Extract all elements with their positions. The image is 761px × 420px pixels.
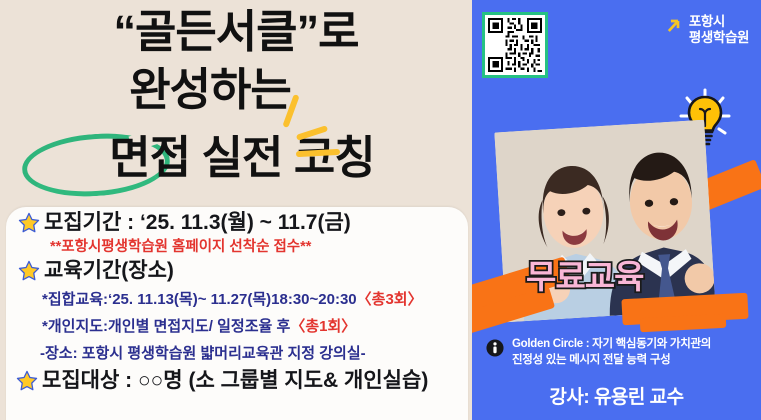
detail-row-application-note: **포항시평생학습원 홈페이지 선착순 접수** <box>50 238 311 256</box>
note-text: Golden Circle : 자기 핵심동기와 가치관의 진정성 있는 메시지… <box>512 336 711 368</box>
arrow-up-right-icon <box>663 16 683 38</box>
logo-line-1: 포항시 <box>689 14 725 29</box>
info-icon <box>486 339 504 357</box>
title-line-2: 완성하는 <box>0 64 446 116</box>
title-block: “골든서클”로 완성하는 면접 실전 코칭 <box>0 2 472 207</box>
left-content-panel: “골든서클”로 완성하는 면접 실전 코칭 모집기간 : ‘25. 11.3(월… <box>0 0 472 420</box>
organization-logo: 포항시 평생학습원 <box>663 14 749 46</box>
recruitment-period-text: 모집기간 : ‘25. 11.3(월) ~ 11.7(금) <box>44 211 351 235</box>
star-icon <box>16 370 38 392</box>
detail-row-target-audience: 모집대상 : ○○명 (소 그룹별 지도& 개인실습) <box>16 369 428 393</box>
instructor-name: 강사: 유용린 교수 <box>472 382 761 409</box>
title-line-3: 면접 실전 코칭 <box>6 132 472 184</box>
detail-row-venue: -장소: 포항시 평생학습원 뱗머리교육관 지정 강의실- <box>40 344 366 363</box>
detail-row-group-training: *집합교육:‘25. 11.13(목)~ 11.27(목)18:30~20:30… <box>42 290 423 309</box>
golden-circle-note: Golden Circle : 자기 핵심동기와 가치관의 진정성 있는 메시지… <box>486 336 752 368</box>
venue-text: -장소: 포항시 평생학습원 뱗머리교육관 지정 강의실- <box>40 344 366 363</box>
application-note-text: **포항시평생학습원 홈페이지 선착순 접수** <box>50 238 311 256</box>
logo-line-2: 평생학습원 <box>689 30 749 45</box>
training-period-label: 교육기간(장소) <box>44 259 174 283</box>
group-training-text: *집합교육:‘25. 11.13(목)~ 11.27(목)18:30~20:30 <box>42 290 357 309</box>
details-card: 모집기간 : ‘25. 11.3(월) ~ 11.7(금) **포항시평생학습원… <box>6 207 468 420</box>
organization-name: 포항시 평생학습원 <box>689 14 749 46</box>
individual-training-count: 〈총1회〉 <box>290 317 356 336</box>
detail-row-recruitment-period: 모집기간 : ‘25. 11.3(월) ~ 11.7(금) <box>18 211 351 235</box>
right-blue-panel: 포항시 평생학습원 <box>472 0 761 420</box>
orange-brush-stroke-right-2 <box>640 314 727 332</box>
group-training-count: 〈총3회〉 <box>357 290 423 309</box>
note-line-2: 진정성 있는 메시지 전달 능력 구성 <box>512 354 670 366</box>
detail-row-training-period: 교육기간(장소) <box>18 259 174 283</box>
free-course-badge: 무료교육 <box>526 258 643 296</box>
qr-code-icon[interactable] <box>482 12 548 78</box>
individual-training-text: *개인지도:개인별 면접지도/ 일정조율 후 <box>42 317 290 336</box>
detail-row-individual-training: *개인지도:개인별 면접지도/ 일정조율 후 〈총1회〉 <box>42 317 356 336</box>
note-line-1: Golden Circle : 자기 핵심동기와 가치관의 <box>512 338 711 350</box>
poster-root: “골든서클”로 완성하는 면접 실전 코칭 모집기간 : ‘25. 11.3(월… <box>0 0 761 420</box>
star-icon <box>18 212 40 234</box>
star-icon <box>18 260 40 282</box>
target-audience-text: 모집대상 : ○○명 (소 그룹별 지도& 개인실습) <box>42 369 428 393</box>
title-line-1: “골든서클”로 <box>0 6 472 58</box>
